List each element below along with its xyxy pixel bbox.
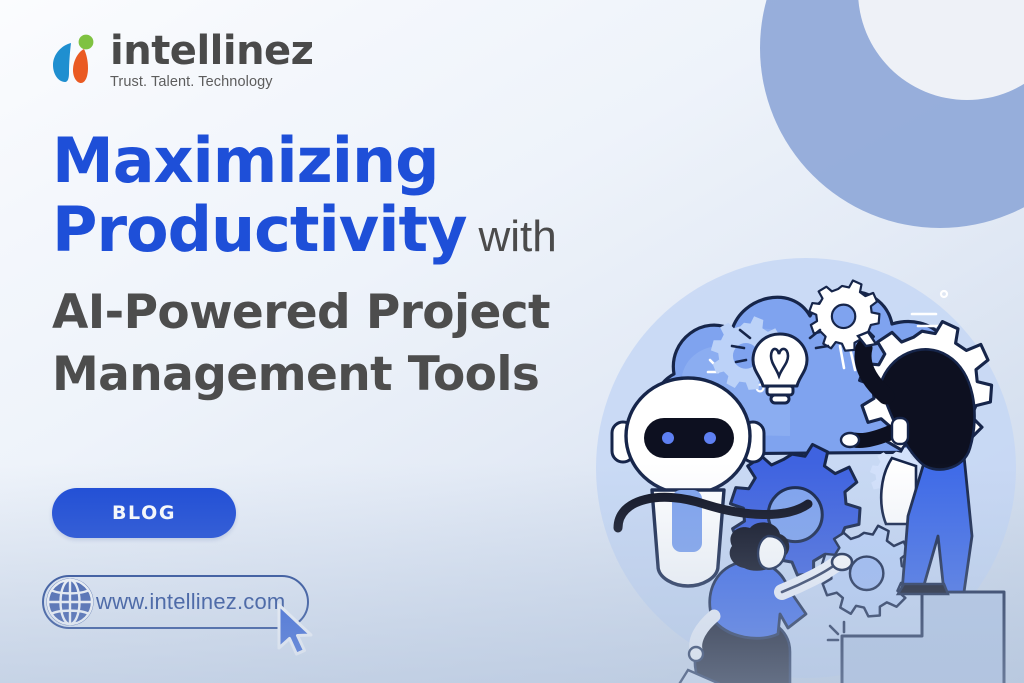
headline-line-2: Productivity [52, 193, 467, 266]
website-url-text: www.intellinez.com [96, 589, 285, 615]
blog-button[interactable]: BLOG [52, 488, 236, 538]
headline-line-1: Maximizing [52, 128, 712, 195]
ai-productivity-illustration [592, 236, 1024, 683]
logo-tagline: Trust. Talent. Technology [110, 75, 313, 90]
globe-icon [40, 572, 100, 632]
brand-logo[interactable]: intellinez Trust. Talent. Technology [48, 31, 313, 90]
logo-wordmark: intellinez [110, 31, 313, 71]
blog-banner: intellinez Trust. Talent. Technology Max… [0, 0, 1024, 683]
headline-connector: with [479, 212, 557, 261]
intellinez-leaf-mark-icon [48, 32, 100, 88]
website-url-chip[interactable]: www.intellinez.com [42, 575, 309, 629]
